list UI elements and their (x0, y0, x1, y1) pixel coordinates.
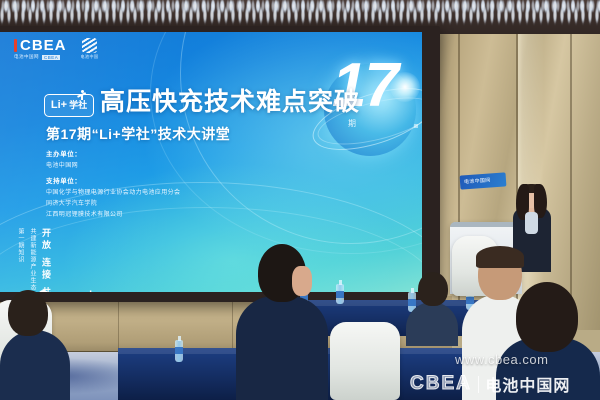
cbea-logo-subtitle-en: CBEA (42, 55, 60, 60)
wall-seam (570, 0, 572, 330)
supporter-heading: 支持单位： (46, 175, 180, 185)
organizer-heading: 主办单位： (46, 148, 180, 158)
slide-subtitle: 第17期“Li+学社”技术大讲堂 (46, 124, 230, 144)
badge-li-text: Li+ (51, 100, 67, 111)
slogan-mid: 共建新能源产业生态 (28, 228, 37, 292)
supporter-line: 江西明冠锂膜技术有限公司 (46, 209, 180, 218)
lectern-sign-text: 电池中国网 (464, 176, 491, 185)
audience-member-center (236, 244, 328, 400)
organizer-block: 主办单位： 电池中国网 支持单位： 中国化学与物理电源行业协会动力电池应用分会 … (46, 148, 180, 218)
partner-logo: 电池中国 (81, 38, 99, 60)
slide-main-title: 高压快充技术难点突破 (100, 90, 360, 115)
audience-member-mid (406, 272, 458, 342)
person-figure-icon (76, 90, 88, 102)
photo-scene: 17 期 CBEA 电池中国网 CBEA (0, 0, 600, 400)
watermark-brand-text: CBEA (410, 373, 472, 395)
audience-member-left (0, 290, 70, 400)
water-bottle (175, 340, 183, 362)
vertical-slogan: 第一期知识 共建新能源产业生态 开放 连接 共享 (16, 228, 53, 292)
watermark-brand: CBEA 电池中国网 (410, 372, 570, 396)
watermark-url: www.cbea.com (455, 352, 548, 367)
water-bottle (336, 284, 344, 304)
organizer-line: 电池中国网 (46, 160, 180, 169)
partner-logo-caption: 电池中国 (81, 54, 99, 60)
white-chair (330, 322, 400, 400)
slide-logo-row: CBEA 电池中国网 CBEA 电池中国 (14, 38, 99, 60)
cbea-logo-subtitle-cn: 电池中国网 (14, 54, 39, 60)
emblem-mini-text: 期 (348, 118, 358, 129)
presentation-slide: 17 期 CBEA 电池中国网 CBEA (0, 32, 422, 292)
cbea-logo: CBEA 电池中国网 CBEA (14, 38, 67, 60)
led-screen-bezel: 17 期 CBEA 电池中国网 CBEA (0, 26, 440, 302)
slogan-small: 第一期知识 (16, 228, 25, 292)
logo-red-bar (14, 39, 17, 52)
supporter-line: 中国化学与物理电源行业协会动力电池应用分会 (46, 187, 180, 196)
watermark-separator (478, 376, 480, 393)
slide-url-arrows: >>>>> (140, 291, 161, 293)
slogan-big: 开放 连接 共享 (40, 228, 53, 292)
cbea-logo-text: CBEA (20, 38, 67, 53)
supporter-line: 同济大学汽车学院 (46, 198, 180, 207)
badge-cn-text: 学社 (69, 101, 87, 110)
battery-stack-icon (82, 38, 97, 53)
li-plus-club-badge: Li+ 学社 (44, 94, 94, 117)
watermark-brand-cn: 电池中国网 (485, 372, 570, 396)
